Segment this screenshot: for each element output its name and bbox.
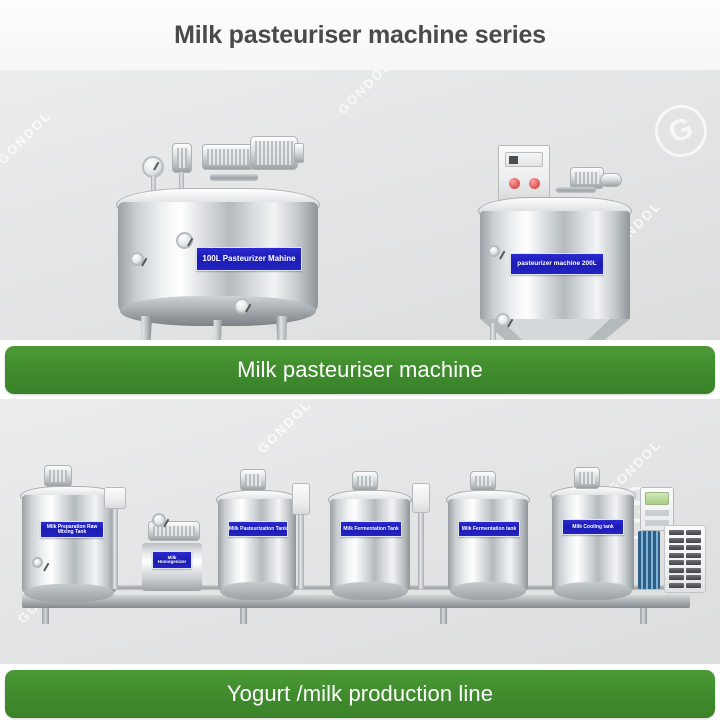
product-cooling-tank: Milk Cooling tank: [552, 495, 634, 591]
banner-production-line[interactable]: Yogurt /milk production line: [5, 670, 715, 718]
valve-control: [104, 487, 126, 509]
product-homogenizer: Milk Homogenizer: [134, 517, 210, 591]
banner-pasteuriser[interactable]: Milk pasteuriser machine: [5, 346, 715, 394]
side-port: [488, 245, 500, 257]
lifting-handle: [210, 174, 258, 181]
watermark-text: GONDOL: [0, 108, 54, 167]
top-pipe: [556, 187, 596, 193]
fermentation-tank-1-motor: [352, 471, 378, 491]
tank-shell: [552, 495, 634, 591]
pressure-gauge-icon: [152, 513, 166, 527]
agitator-motor: [250, 136, 298, 170]
tank-shell: [218, 499, 296, 591]
gearbox: [202, 144, 254, 170]
tank-control-box: [292, 483, 310, 515]
product-label-mixing-tank: Milk Preparation Raw Mixing Tank: [40, 521, 104, 538]
riser-pipe: [298, 515, 304, 589]
tank-base: [554, 582, 633, 600]
banner-wrap-pasteuriser: Milk pasteuriser machine: [0, 340, 720, 399]
page-title: Milk pasteuriser machine series: [174, 21, 546, 50]
platform-leg: [640, 608, 647, 624]
chiller-display: [645, 492, 669, 505]
product-label-fermentation-tank-1: Milk Fermentation Tank: [340, 521, 402, 537]
tank-control-box: [412, 483, 430, 513]
product-label-homogenizer: Milk Homogenizer: [152, 551, 192, 569]
fermentation-tank-2-motor: [470, 471, 496, 491]
motor-fan-cover: [294, 143, 304, 163]
agitator-motor: [570, 167, 604, 189]
control-box: [498, 145, 550, 201]
banner-wrap-production-line: Yogurt /milk production line: [0, 664, 720, 723]
digital-display: [505, 152, 543, 167]
pasteurization-tank-motor: [240, 469, 266, 491]
product-pasteurization-tank: Milk Pasteurization Tank: [218, 499, 296, 591]
product-label-fermentation-tank-2: Milk Fermentation tank: [458, 521, 520, 537]
watermark-text: GONDOL: [335, 70, 394, 117]
product-200l-pasteuriser: pasteurizer machine 200L: [470, 195, 640, 340]
product-mixing-tank: Milk Preparation Raw Mixing Tank: [22, 495, 116, 593]
product-photo-panel-pasteuriser: GONDOL GONDOL GONDOL G 100L Pasteurizer …: [0, 70, 720, 340]
motor-housing: [600, 173, 622, 187]
product-label-cooling-tank: Milk Cooling tank: [562, 519, 624, 535]
condenser-unit: [664, 525, 706, 593]
product-label-tank2: pasteurizer machine 200L: [510, 253, 604, 275]
platform-leg: [240, 608, 247, 624]
tank-shell: [330, 499, 410, 591]
product-label-tank1: 100L Pasteurizer Mahine: [196, 247, 302, 271]
tank-shell: [22, 495, 116, 593]
outlet-valve: [234, 298, 250, 314]
product-photo-panel-production-line: GONDOL GONDOL GONDOL G Milk Preparation …: [0, 399, 720, 664]
stop-button[interactable]: [529, 178, 540, 189]
tank-base: [24, 584, 114, 602]
evaporator-coil: [638, 531, 660, 589]
mixing-tank-motor: [44, 465, 72, 487]
pressure-gauge-icon: [142, 156, 164, 178]
cooling-tank-motor: [574, 467, 600, 489]
drain-pipe: [490, 323, 496, 340]
product-label-pasteurization-tank: Milk Pasteurization Tank: [228, 521, 288, 537]
platform-leg: [440, 608, 447, 624]
manhole-port: [176, 232, 193, 249]
tank-base: [450, 582, 527, 600]
tank-shell: [448, 499, 528, 591]
riser-pipe: [112, 507, 118, 589]
page-header: Milk pasteuriser machine series: [0, 0, 720, 70]
watermark-logo-icon: G: [648, 98, 715, 165]
banner-label: Yogurt /milk production line: [227, 681, 493, 707]
riser-pipe: [418, 513, 424, 589]
tank-base: [332, 582, 409, 600]
product-fermentation-tank-1: Milk Fermentation Tank: [330, 499, 410, 591]
sensor-probe: [172, 143, 192, 173]
product-showcase-page: Milk pasteuriser machine series GONDOL G…: [0, 0, 720, 720]
watermark-text: GONDOL: [255, 399, 314, 456]
start-button[interactable]: [509, 178, 520, 189]
banner-label: Milk pasteuriser machine: [237, 357, 483, 383]
product-100l-pasteuriser: 100L Pasteurizer Mahine: [118, 188, 318, 333]
cone-highlight: [500, 319, 610, 340]
chiller-button-row[interactable]: [645, 510, 669, 516]
product-fermentation-tank-2: Milk Fermentation tank: [448, 499, 528, 591]
platform-leg: [42, 608, 49, 624]
side-port: [32, 557, 43, 568]
side-fitting: [130, 252, 144, 266]
tank-base: [220, 582, 295, 600]
outlet-valve: [496, 313, 510, 327]
